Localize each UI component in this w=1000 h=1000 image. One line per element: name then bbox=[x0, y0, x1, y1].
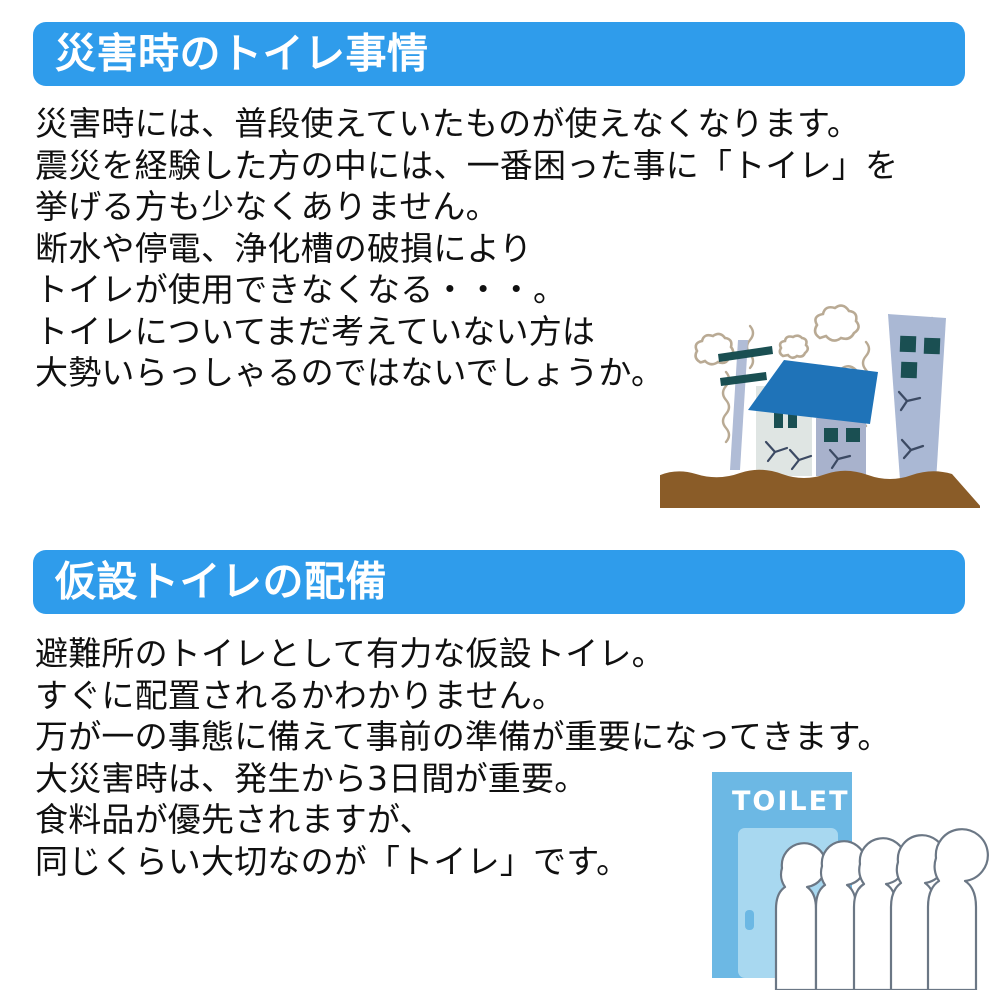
poster-page: 災害時のトイレ事情 災害時には、普段使えていたものが使えなくなります。 震災を経… bbox=[0, 0, 1000, 1000]
body-line: 震災を経験した方の中には、一番困った事に「トイレ」を bbox=[35, 145, 935, 187]
section-1-heading-text: 災害時のトイレ事情 bbox=[55, 34, 429, 75]
cracked-building-icon bbox=[888, 314, 946, 482]
body-line: 万が一の事態に備えて事前の準備が重要になってきます。 bbox=[35, 716, 935, 758]
section-2-heading-banner: 仮設トイレの配備 bbox=[33, 550, 965, 614]
body-line: 避難所のトイレとして有力な仮設トイレ。 bbox=[35, 633, 935, 675]
section-2-heading-text: 仮設トイレの配備 bbox=[55, 562, 387, 603]
section-1-heading-banner: 災害時のトイレ事情 bbox=[33, 22, 965, 86]
house-annex-icon bbox=[816, 418, 866, 476]
body-line: すぐに配置されるかわかりません。 bbox=[35, 675, 935, 717]
portable-toilet-queue-illustration: TOILET bbox=[700, 762, 990, 990]
queue-people-icon bbox=[776, 829, 988, 990]
toilet-door-handle-icon bbox=[745, 910, 754, 930]
body-line: 災害時には、普段使えていたものが使えなくなります。 bbox=[35, 103, 935, 145]
body-line: 断水や停電、浄化槽の破損により bbox=[35, 228, 935, 270]
earthquake-damaged-town-illustration bbox=[660, 300, 980, 510]
section-disaster-toilet-situation: 災害時のトイレ事情 災害時には、普段使えていたものが使えなくなります。 震災を経… bbox=[0, 0, 1000, 520]
body-line: 挙げる方も少なくありません。 bbox=[35, 186, 935, 228]
toilet-sign-label: TOILET bbox=[732, 786, 849, 817]
